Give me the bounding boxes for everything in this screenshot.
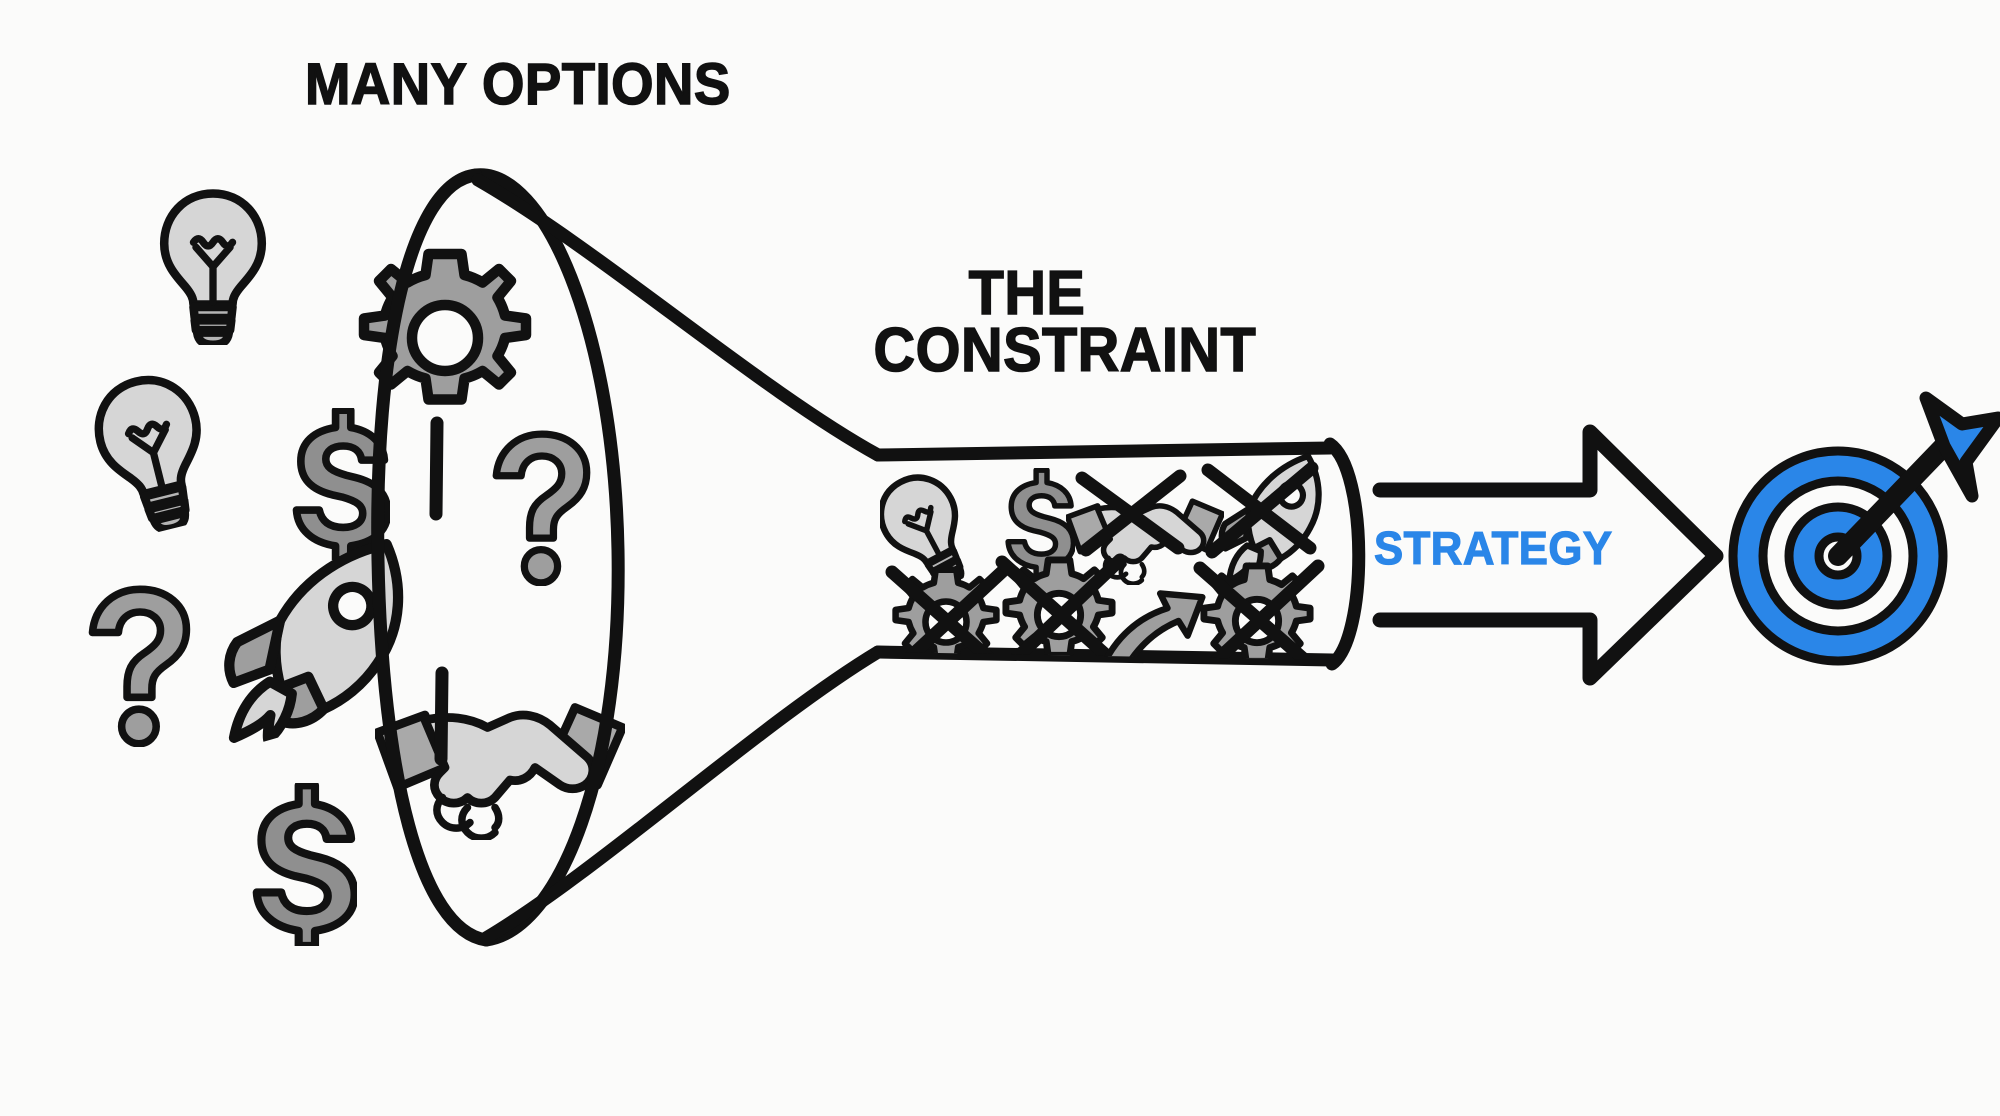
question-mark-icon: [496, 434, 586, 583]
many-options-label: MANY OPTIONS: [305, 55, 731, 114]
the-constraint-label: THE CONSTRAINT: [874, 262, 1181, 382]
rocket-icon: [194, 544, 431, 750]
input-icon-cluster: [88, 194, 622, 946]
dashed-divider: [436, 423, 442, 759]
dollar-icon-2: [257, 785, 355, 946]
lightbulb-icon: [164, 194, 262, 345]
constraint-label-line2: CONSTRAINT: [874, 319, 1181, 382]
question-mark-icon-2: [92, 589, 186, 743]
lightbulb-icon: [868, 465, 987, 600]
strategy-label: STRATEGY: [1374, 525, 1613, 572]
funnel-diagram-canvas: .fill-a{fill:#d6d6d6;stroke:#111111;stro…: [0, 0, 2000, 1116]
diagram-svg: .fill-a{fill:#d6d6d6;stroke:#111111;stro…: [0, 0, 2000, 1116]
constraint-icon-cluster: [868, 456, 1344, 672]
lightbulb-icon-2: [88, 370, 219, 540]
bullseye-target-icon: [1733, 398, 1998, 661]
